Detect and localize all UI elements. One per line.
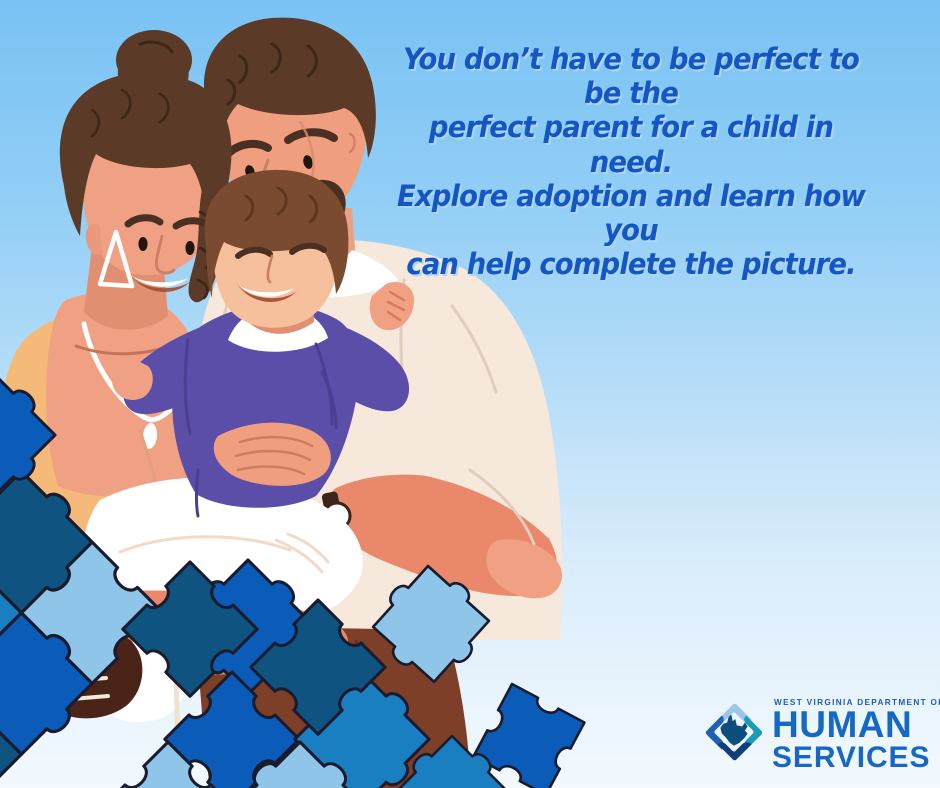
headline-text: You don’t have to be perfect to be the p… [385,42,878,282]
woman-eye-right [185,241,194,255]
logo-human-line: HUMAN [772,708,932,742]
child-hand-left [112,360,153,400]
adoption-poster: You don’t have to be perfect to be the p… [0,0,940,788]
woman-eye-left [138,237,147,251]
wv-human-services-emblem [700,698,768,766]
woman-hair-bun [116,30,192,90]
wv-human-services-logo: WEST VIRGINIA DEPARTMENT OF HUMAN SERVIC… [700,692,930,772]
logo-services-line: SERVICES [772,744,932,772]
